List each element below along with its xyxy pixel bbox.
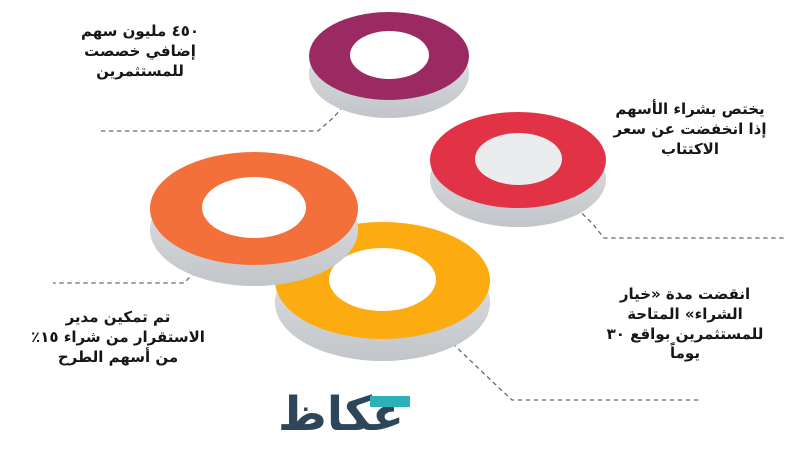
disc-orange	[150, 152, 358, 265]
okaz-logo-accent-bar	[370, 396, 410, 407]
disc-magenta	[309, 12, 469, 100]
disc-magenta-hole	[350, 31, 429, 79]
callout-top-right: يختص بشراء الأسهم إذا انخفضت عن سعر الاك…	[592, 100, 788, 159]
okaz-logo: عكاظ	[258, 391, 424, 439]
disc-orange-hole	[202, 177, 306, 238]
disc-red	[430, 112, 606, 208]
callout-bottom-left: تم تمكين مدير الاستقرار من شراء ١٥٪ من أ…	[18, 308, 218, 367]
callout-top-left: ٤٥٠ مليون سهم إضافي خصصت للمستثمرين	[45, 22, 235, 81]
callout-bottom-right: انقضت مدة «خيار الشراء» المتاحة للمستثمر…	[585, 285, 785, 364]
infographic-canvas: ٤٥٠ مليون سهم إضافي خصصت للمستثمرين يختص…	[0, 0, 800, 449]
disc-red-hole	[475, 133, 562, 185]
